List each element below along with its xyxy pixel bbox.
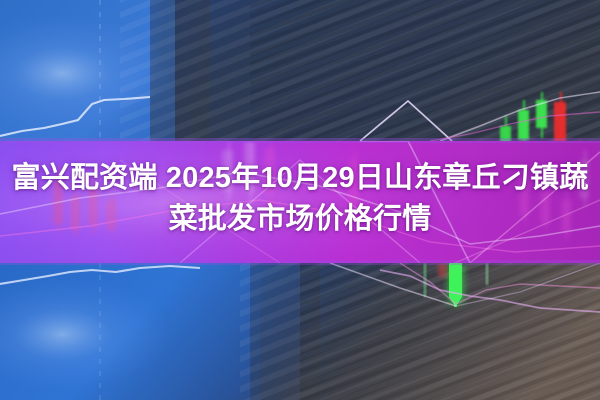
band-bottom — [0, 263, 600, 400]
candlestick-up-icon — [486, 263, 488, 285]
candlestick-up-icon — [222, 141, 233, 201]
background-artwork — [0, 0, 600, 400]
band-seam-bottom — [0, 260, 600, 265]
band-seam-top — [0, 138, 600, 143]
banner-image: 富兴配资端 2025年10月29日山东章丘刁镇蔬 菜批发市场价格行情 — [0, 0, 600, 400]
band-middle — [0, 141, 600, 263]
candlestick-down-icon — [438, 263, 447, 277]
